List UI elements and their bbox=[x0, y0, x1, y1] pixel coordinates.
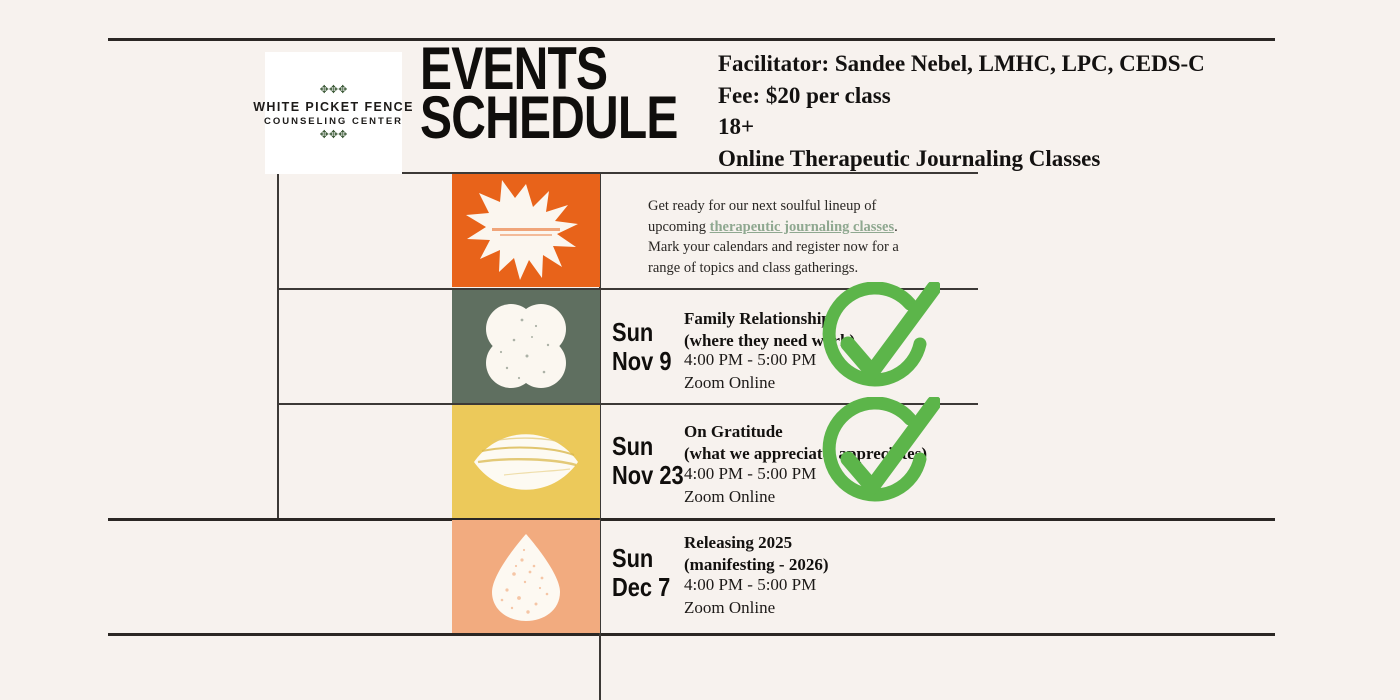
logo-name: WHITE PICKET FENCE bbox=[253, 100, 414, 114]
divider-row-2-top bbox=[277, 403, 978, 405]
event-tile-0 bbox=[452, 290, 600, 403]
event-title-main-1: On Gratitude bbox=[684, 421, 927, 443]
event-day-0: Sun bbox=[612, 318, 671, 347]
intro-tile-starburst bbox=[452, 174, 600, 287]
event-title-main-2: Releasing 2025 bbox=[684, 532, 828, 554]
event-title-2: Releasing 2025 (manifesting - 2026) bbox=[684, 532, 828, 576]
divider-top bbox=[108, 38, 1275, 41]
teardrop-icon bbox=[452, 520, 600, 633]
event-day-1: Sun bbox=[612, 432, 684, 461]
event-location-1: Zoom Online bbox=[684, 486, 816, 509]
clover-icon bbox=[452, 290, 600, 403]
event-day-2: Sun bbox=[612, 544, 670, 573]
event-location-0: Zoom Online bbox=[684, 372, 816, 395]
page-title: EVENTS SCHEDULE bbox=[420, 44, 636, 142]
logo: ✥✥✥ WHITE PICKET FENCE COUNSELING CENTER… bbox=[265, 52, 402, 174]
fact-fee: Fee: $20 per class bbox=[718, 80, 1278, 112]
event-title-main-0: Family Relationships bbox=[684, 308, 855, 330]
event-datenum-1: Nov 23 bbox=[612, 461, 684, 490]
vertical-divider-lower bbox=[599, 633, 601, 700]
fact-age: 18+ bbox=[718, 111, 1278, 143]
events-schedule-poster: ✥✥✥ WHITE PICKET FENCE COUNSELING CENTER… bbox=[0, 0, 1400, 700]
divider-row-1-top bbox=[277, 288, 978, 290]
facilitator-details: Facilitator: Sandee Nebel, LMHC, LPC, CE… bbox=[718, 48, 1278, 175]
event-time-2: 4:00 PM - 5:00 PM bbox=[684, 574, 816, 597]
event-date-2: Sun Dec 7 bbox=[612, 544, 670, 602]
fact-class-type: Online Therapeutic Journaling Classes bbox=[718, 143, 1278, 175]
event-meta-2: 4:00 PM - 5:00 PM Zoom Online bbox=[684, 574, 816, 619]
vertical-divider-left-column bbox=[277, 174, 279, 518]
logo-subtitle: COUNSELING CENTER bbox=[264, 116, 403, 127]
event-tile-1 bbox=[452, 405, 600, 518]
sprig-top-icon: ✥✥✥ bbox=[320, 85, 348, 97]
divider-bottom bbox=[108, 633, 1275, 636]
event-datenum-2: Dec 7 bbox=[612, 573, 670, 602]
event-meta-0: 4:00 PM - 5:00 PM Zoom Online bbox=[684, 349, 816, 394]
leaf-lens-icon bbox=[452, 405, 600, 518]
event-datenum-0: Nov 9 bbox=[612, 347, 671, 376]
sprig-bottom-icon: ✥✥✥ bbox=[320, 130, 348, 142]
starburst-icon bbox=[452, 174, 600, 287]
event-title-0: Family Relationships (where they need wo… bbox=[684, 308, 855, 352]
event-date-1: Sun Nov 23 bbox=[612, 432, 684, 490]
therapeutic-journaling-link[interactable]: therapeutic journaling classes bbox=[710, 219, 894, 235]
event-title-sub-1: (what we appreciate, appreciates) bbox=[684, 443, 927, 465]
event-date-0: Sun Nov 9 bbox=[612, 318, 671, 376]
event-time-1: 4:00 PM - 5:00 PM bbox=[684, 463, 816, 486]
divider-row-3-top bbox=[108, 518, 1275, 521]
page-title-line-2: SCHEDULE bbox=[420, 93, 636, 142]
event-title-sub-2: (manifesting - 2026) bbox=[684, 554, 828, 576]
fact-facilitator: Facilitator: Sandee Nebel, LMHC, LPC, CE… bbox=[718, 48, 1278, 80]
event-location-2: Zoom Online bbox=[684, 597, 816, 620]
intro-paragraph: Get ready for our next soulful lineup of… bbox=[648, 196, 908, 278]
event-time-0: 4:00 PM - 5:00 PM bbox=[684, 349, 816, 372]
event-meta-1: 4:00 PM - 5:00 PM Zoom Online bbox=[684, 463, 816, 508]
event-title-1: On Gratitude (what we appreciate, apprec… bbox=[684, 421, 927, 465]
event-tile-2 bbox=[452, 520, 600, 633]
